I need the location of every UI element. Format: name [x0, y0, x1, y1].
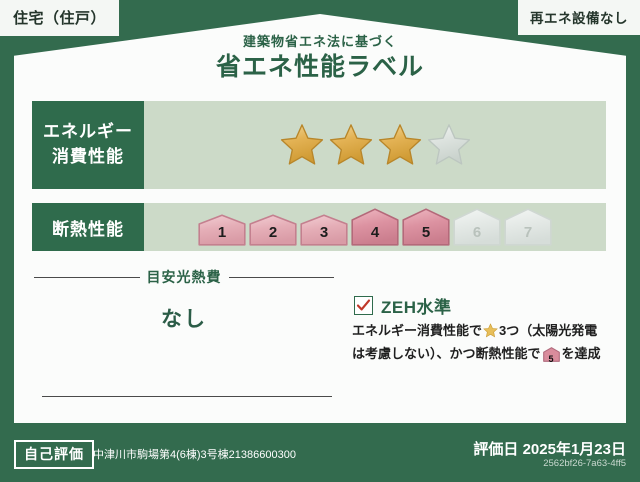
insulation-level-1: 1 — [198, 214, 246, 246]
row-energy-value — [144, 101, 606, 189]
zeh-header: ZEH水準 — [354, 293, 452, 318]
row-insulation-value: 1234567 — [144, 203, 606, 251]
utility-cost-value: なし — [34, 303, 334, 333]
inline-house-icon: 5 — [543, 347, 560, 368]
footer: 自己評価 中津川市駒場第4(6棟)3号棟21386600300 評価日 2025… — [0, 430, 640, 482]
evaluation-date: 評価日 2025年1月23日 — [473, 438, 626, 459]
insulation-level-number: 1 — [198, 224, 246, 241]
row-energy-label-line1: エネルギー — [43, 122, 133, 141]
insulation-scale: 1234567 — [198, 208, 552, 246]
insulation-level-4: 4 — [351, 208, 399, 246]
insulation-level-number: 6 — [453, 224, 501, 241]
evaluation-date-label: 評価日 — [473, 441, 518, 458]
insulation-level-3: 3 — [300, 214, 348, 246]
insulation-level-2: 2 — [249, 214, 297, 246]
row-insulation-label: 断熱性能 — [32, 203, 144, 251]
star-rating — [279, 122, 472, 168]
utility-cost-bottom-rule — [42, 396, 332, 397]
main-panel: エネルギー 消費性能 断熱性能 1234567 目安光熱費 なし — [14, 85, 626, 423]
star-filled-icon — [279, 122, 325, 168]
zeh-desc-part3: を達成 — [562, 346, 601, 361]
insulation-level-6: 6 — [453, 208, 501, 246]
utility-cost-header: 目安光熱費 — [34, 267, 334, 287]
star-empty-icon — [426, 122, 472, 168]
zeh-desc-stars: 3つ（太陽光発電 — [499, 323, 597, 338]
insulation-level-number: 7 — [504, 224, 552, 241]
insulation-level-number: 2 — [249, 224, 297, 241]
evaluation-id: 2562bf26-7a63-4ff5 — [543, 458, 626, 469]
inline-house-level: 5 — [543, 353, 560, 367]
utility-cost-title: 目安光熱費 — [147, 267, 222, 287]
rule-right — [229, 277, 335, 278]
checkbox-checked-icon — [354, 296, 373, 315]
evaluation-date-value: 2025年1月23日 — [523, 441, 626, 458]
star-filled-icon — [377, 122, 423, 168]
insulation-level-number: 4 — [351, 224, 399, 241]
insulation-level-5: 5 — [402, 208, 450, 246]
insulation-level-number: 3 — [300, 224, 348, 241]
badge-building-type: 住宅（住戸） — [0, 0, 119, 36]
zeh-desc-part1: エネルギー消費性能で — [352, 323, 482, 338]
zeh-title: ZEH水準 — [381, 293, 452, 318]
row-energy-performance: エネルギー 消費性能 — [32, 101, 606, 189]
badge-renewable-energy: 再エネ設備なし — [518, 0, 640, 35]
zeh-description: エネルギー消費性能で3つ（太陽光発電は考慮しない）、かつ断熱性能で5を達成 — [352, 321, 640, 368]
row-insulation-performance: 断熱性能 1234567 — [32, 203, 606, 251]
inline-star-icon — [483, 323, 498, 344]
row-energy-label-line2: 消費性能 — [52, 147, 124, 166]
property-address: 中津川市駒場第4(6棟)3号棟21386600300 — [93, 446, 296, 462]
insulation-level-number: 5 — [402, 224, 450, 241]
self-assessment-badge: 自己評価 — [14, 440, 94, 469]
rule-left — [34, 277, 140, 278]
zeh-desc-part2: は考慮しない）、かつ断熱性能で — [352, 346, 541, 361]
star-filled-icon — [328, 122, 374, 168]
energy-performance-label: 建築物省エネ法に基づく 省エネ性能ラベル 住宅（住戸） 再エネ設備なし エネルギ… — [0, 0, 640, 482]
insulation-level-7: 7 — [504, 208, 552, 246]
row-energy-label: エネルギー 消費性能 — [32, 101, 144, 189]
